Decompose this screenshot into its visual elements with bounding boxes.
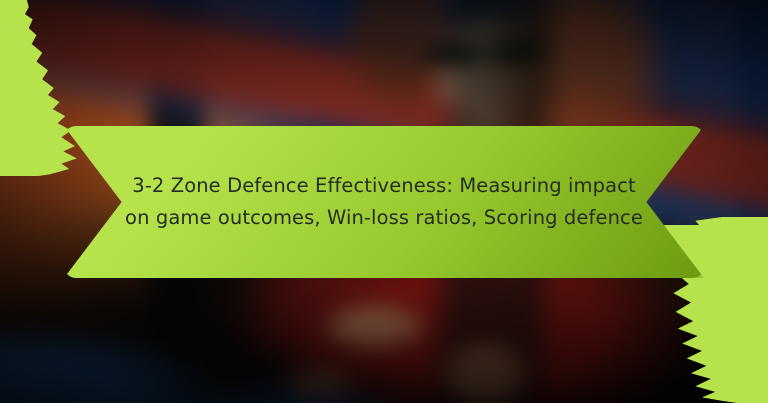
- hero-banner-stage: 3-2 Zone Defence Effectiveness: Measurin…: [0, 0, 768, 403]
- banner-title: 3-2 Zone Defence Effectiveness: Measurin…: [84, 170, 684, 235]
- ribbon-banner: 3-2 Zone Defence Effectiveness: Measurin…: [64, 126, 704, 278]
